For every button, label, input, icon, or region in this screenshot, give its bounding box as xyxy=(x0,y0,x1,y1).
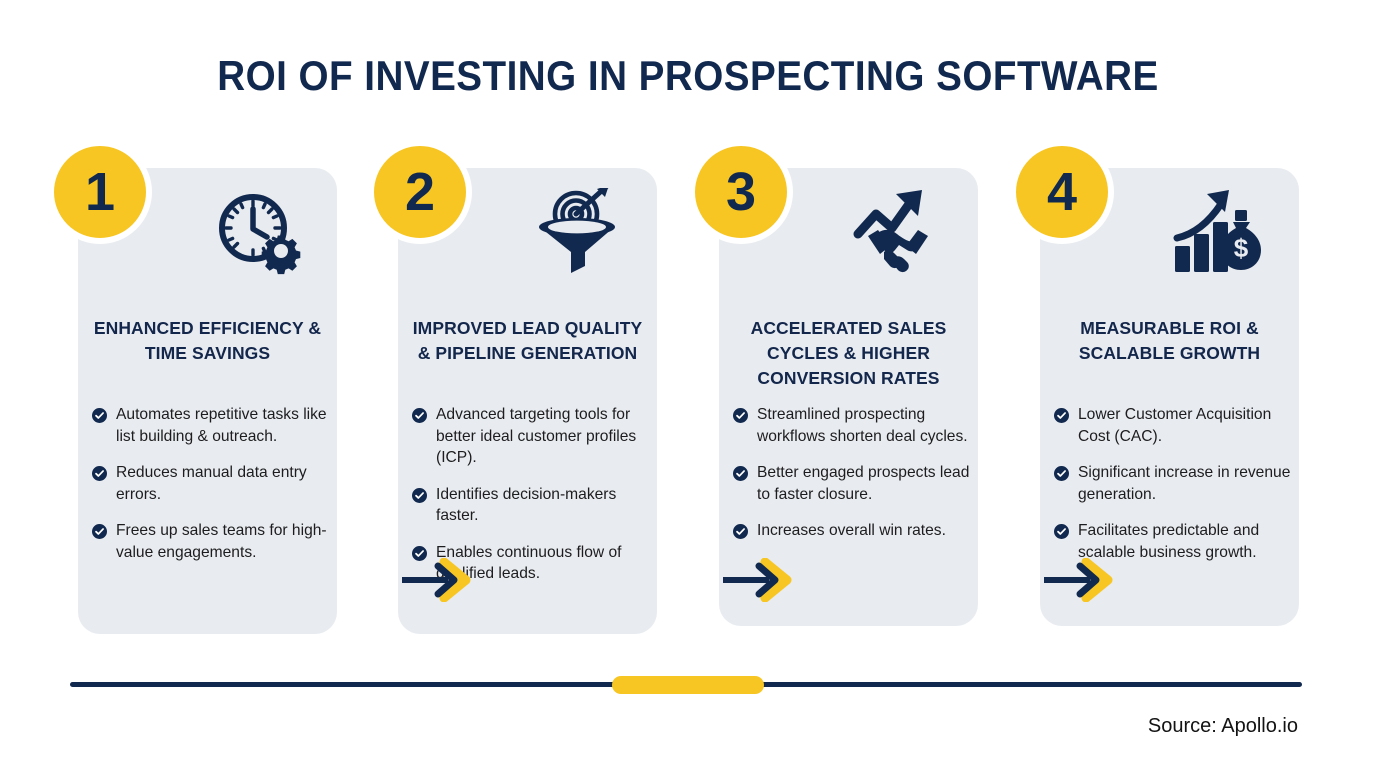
arrow-card3-to-card4 xyxy=(1042,558,1116,602)
page-title: ROI OF INVESTING IN PROSPECTING SOFTWARE xyxy=(55,48,1321,104)
check-circle-icon xyxy=(412,408,427,423)
bullet-list-1: Automates repetitive tasks like list bui… xyxy=(92,404,329,563)
list-item-label: Streamlined prospecting workflows shorte… xyxy=(757,404,970,447)
list-item: Increases overall win rates. xyxy=(733,520,970,542)
list-item: Automates repetitive tasks like list bui… xyxy=(92,404,329,447)
list-item: Streamlined prospecting workflows shorte… xyxy=(733,404,970,447)
list-item-label: Facilitates predictable and scalable bus… xyxy=(1078,520,1291,563)
list-item-label: Lower Customer Acquisition Cost (CAC). xyxy=(1078,404,1291,447)
list-item: Identifies decision-makers faster. xyxy=(412,484,649,527)
card-title-4: MEASURABLE ROI & SCALABLE GROWTH xyxy=(1054,316,1285,366)
list-item-label: Frees up sales teams for high-value enga… xyxy=(116,520,329,563)
arrow-card1-to-card2 xyxy=(400,558,474,602)
list-item: Frees up sales teams for high-value enga… xyxy=(92,520,329,563)
check-circle-icon xyxy=(1054,408,1069,423)
list-item-label: Advanced targeting tools for better idea… xyxy=(436,404,649,469)
svg-text:$: $ xyxy=(1234,233,1249,263)
list-item: Lower Customer Acquisition Cost (CAC). xyxy=(1054,404,1291,447)
check-circle-icon xyxy=(1054,466,1069,481)
list-item: Facilitates predictable and scalable bus… xyxy=(1054,520,1291,563)
bullet-list-3: Streamlined prospecting workflows shorte… xyxy=(733,404,970,542)
step-number-badge-1: 1 xyxy=(48,140,152,244)
card-title-1: ENHANCED EFFICIENCY & TIME SAVINGS xyxy=(92,316,323,366)
check-circle-icon xyxy=(733,408,748,423)
step-number-badge-4: 4 xyxy=(1010,140,1114,244)
list-item-label: Significant increase in revenue generati… xyxy=(1078,462,1291,505)
list-item: Better engaged prospects lead to faster … xyxy=(733,462,970,505)
benefit-card-1: 1 xyxy=(78,168,337,634)
check-circle-icon xyxy=(92,466,107,481)
card-title-3: ACCELERATED SALES CYCLES & HIGHER CONVER… xyxy=(733,316,964,391)
footer-accent-pill xyxy=(612,676,764,694)
handshake-growth-arrow-icon xyxy=(848,184,952,284)
check-circle-icon xyxy=(733,524,748,539)
list-item: Significant increase in revenue generati… xyxy=(1054,462,1291,505)
list-item-label: Automates repetitive tasks like list bui… xyxy=(116,404,329,447)
check-circle-icon xyxy=(1054,524,1069,539)
source-note: Source: Apollo.io xyxy=(1148,713,1298,739)
step-number-badge-2: 2 xyxy=(368,140,472,244)
card-title-2: IMPROVED LEAD QUALITY & PIPELINE GENERAT… xyxy=(412,316,643,366)
check-circle-icon xyxy=(733,466,748,481)
list-item: Reduces manual data entry errors. xyxy=(92,462,329,505)
step-number-badge-3: 3 xyxy=(689,140,793,244)
list-item-label: Better engaged prospects lead to faster … xyxy=(757,462,970,505)
funnel-target-icon xyxy=(527,184,631,284)
list-item-label: Identifies decision-makers faster. xyxy=(436,484,649,527)
cards-row: 1 xyxy=(78,168,1300,638)
check-circle-icon xyxy=(92,408,107,423)
arrow-card2-to-card3 xyxy=(721,558,795,602)
list-item-label: Reduces manual data entry errors. xyxy=(116,462,329,505)
check-circle-icon xyxy=(412,488,427,503)
bullet-list-4: Lower Customer Acquisition Cost (CAC). S… xyxy=(1054,404,1291,563)
check-circle-icon xyxy=(92,524,107,539)
list-item: Advanced targeting tools for better idea… xyxy=(412,404,649,469)
list-item-label: Increases overall win rates. xyxy=(757,520,946,542)
bar-chart-money-bag-icon: $ xyxy=(1169,184,1273,284)
clock-gear-icon xyxy=(207,184,311,284)
